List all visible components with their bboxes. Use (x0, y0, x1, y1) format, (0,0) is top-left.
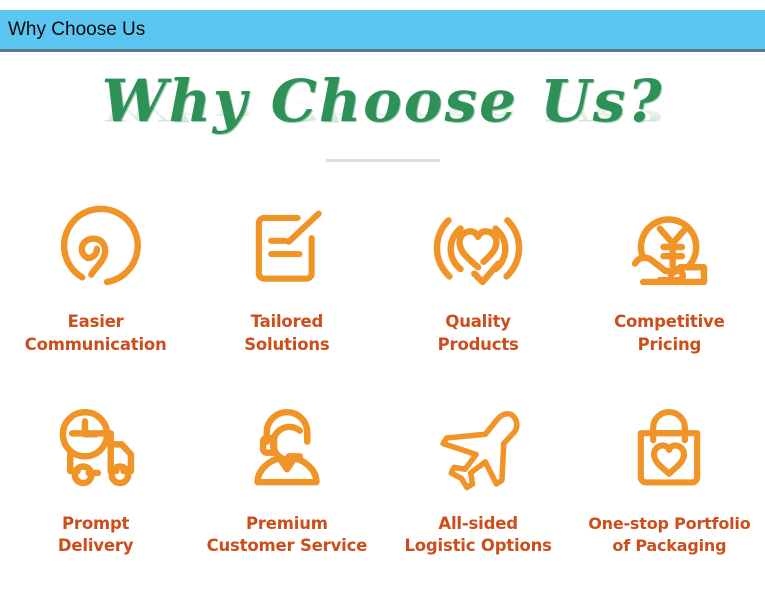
feature-competitive-pricing[interactable]: Competitive Pricing (574, 197, 765, 357)
ear-listening-icon (46, 197, 146, 297)
airplane-icon (428, 399, 528, 499)
truck-clock-icon (46, 399, 146, 499)
feature-easier-communication[interactable]: Easier Communication (0, 197, 191, 357)
heart-signal-check-icon (428, 197, 528, 297)
window-titlebar: Why Choose Us (0, 10, 765, 52)
feature-label: Competitive Pricing (614, 311, 724, 357)
document-pencil-icon (237, 197, 337, 297)
feature-label: Quality Products (438, 311, 519, 357)
page-title: Why Choose Us? (0, 67, 765, 135)
feature-label: Tailored Solutions (244, 311, 329, 357)
feature-label: Prompt Delivery (58, 513, 133, 559)
feature-row-2: Prompt Delivery Premium Customer Service… (0, 399, 765, 559)
feature-row-1: Easier Communication Tailored Solutions (0, 197, 765, 357)
feature-label: All-sided Logistic Options (404, 513, 551, 559)
shopping-bag-heart-icon (619, 399, 719, 499)
window-title: Why Choose Us (0, 20, 145, 39)
headset-agent-icon (237, 399, 337, 499)
hero-section: Why Choose Us? Why Choose Us? (0, 55, 765, 170)
page-content: Why Choose Us? Why Choose Us? Easier Com… (0, 55, 765, 599)
feature-prompt-delivery[interactable]: Prompt Delivery (0, 399, 191, 559)
feature-tailored-solutions[interactable]: Tailored Solutions (191, 197, 382, 357)
hero-divider (326, 159, 440, 162)
hand-yen-coin-icon (619, 197, 719, 297)
feature-quality-products[interactable]: Quality Products (383, 197, 574, 357)
feature-premium-customer-service[interactable]: Premium Customer Service (191, 399, 382, 559)
feature-label: One-stop Portfolio of Packaging (588, 513, 750, 557)
feature-all-sided-logistic-options[interactable]: All-sided Logistic Options (383, 399, 574, 559)
feature-label: Premium Customer Service (207, 513, 368, 559)
feature-one-stop-portfolio-of-packaging[interactable]: One-stop Portfolio of Packaging (574, 399, 765, 559)
feature-label: Easier Communication (25, 311, 167, 357)
